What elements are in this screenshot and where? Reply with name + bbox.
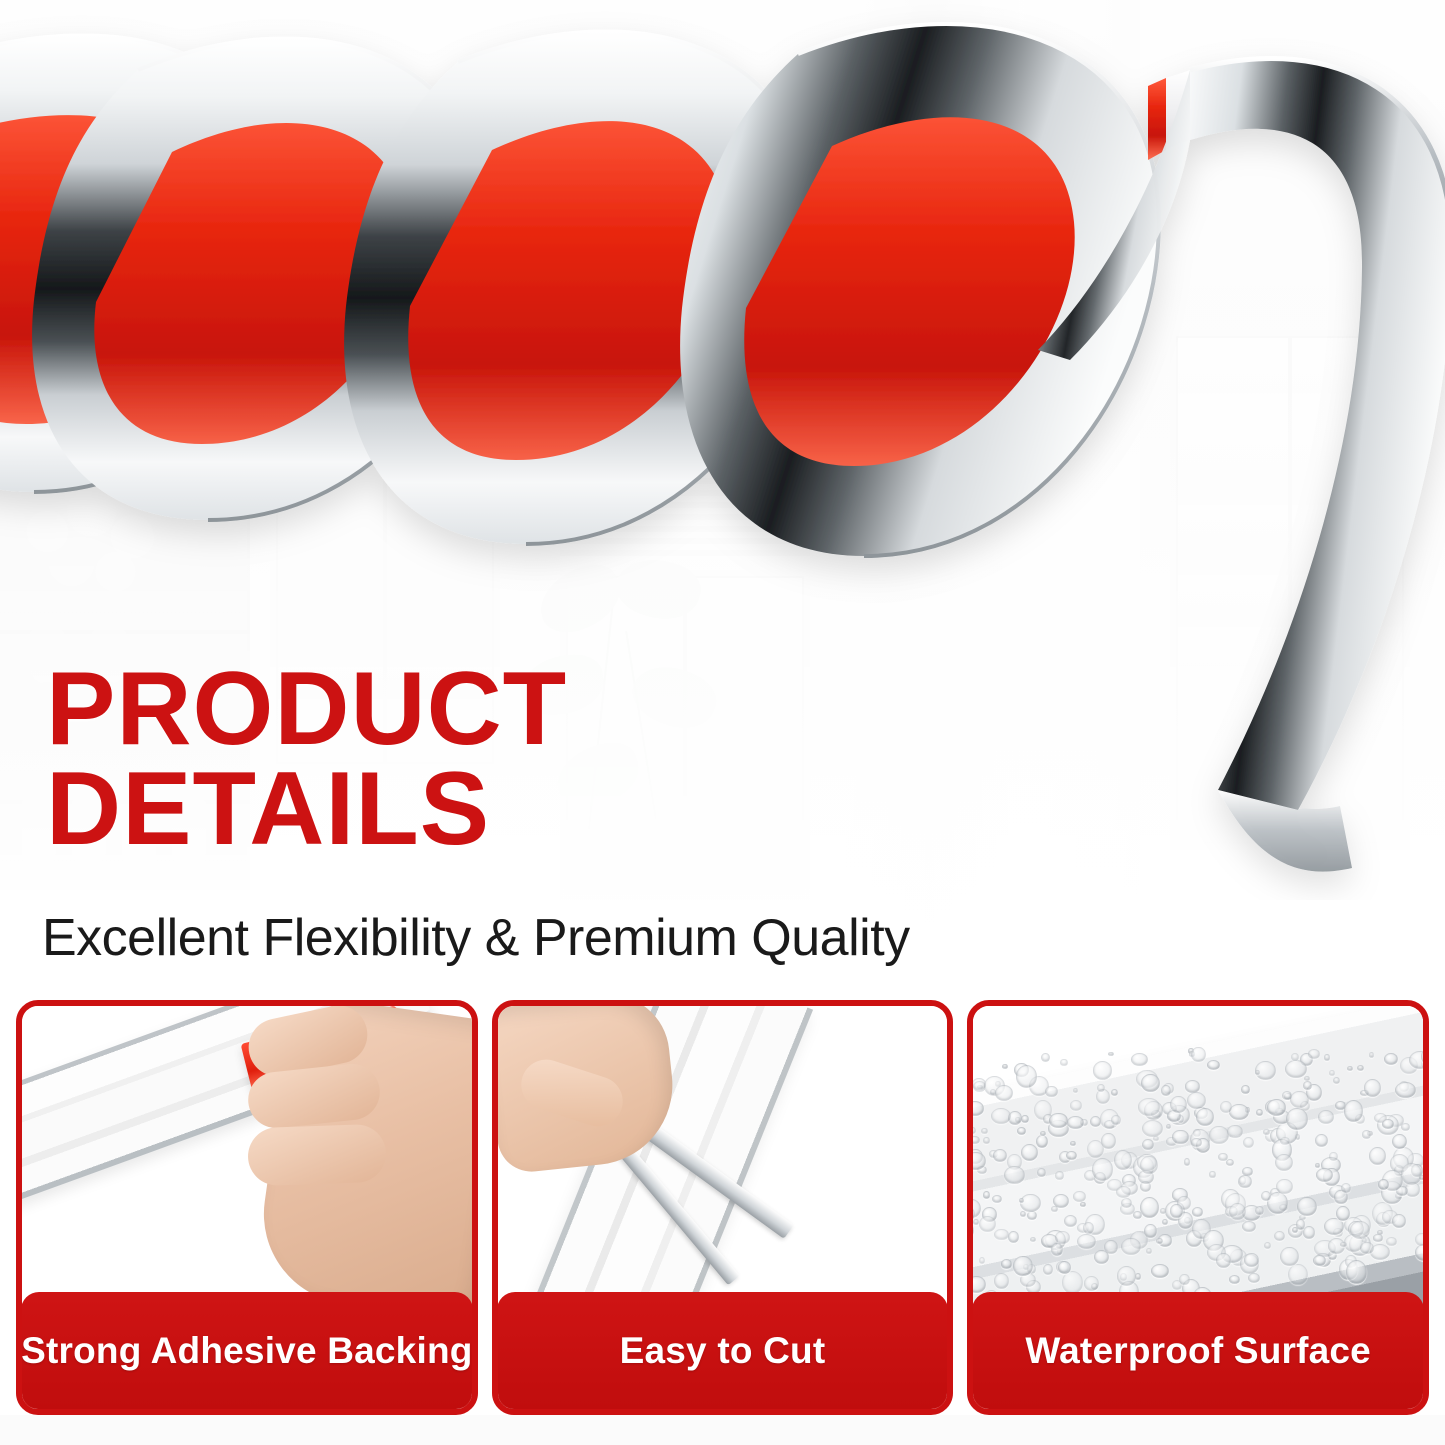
- water-droplet: [992, 1195, 1002, 1203]
- feature-image-cut: [498, 1006, 948, 1310]
- water-droplet: [1040, 1131, 1046, 1136]
- water-droplet: [1308, 1049, 1320, 1059]
- water-droplet: [1001, 1259, 1012, 1269]
- feature-image-waterproof: [973, 1006, 1423, 1310]
- water-droplet: [1070, 1141, 1076, 1146]
- water-droplet: [1207, 1060, 1220, 1070]
- water-droplet: [1292, 1227, 1298, 1233]
- water-droplet: [1170, 1096, 1187, 1113]
- water-droplet: [1280, 1247, 1299, 1267]
- water-droplet: [1013, 1256, 1033, 1277]
- water-droplet: [1093, 1061, 1112, 1079]
- headline-line-1: PRODUCT: [46, 651, 567, 767]
- bottom-spacer: [0, 1415, 1445, 1445]
- water-droplet: [1341, 1183, 1351, 1193]
- water-droplet: [1027, 1211, 1036, 1220]
- water-droplet: [1192, 1207, 1204, 1217]
- product-detail-infographic: PRODUCT DETAILS Excellent Flexibility & …: [0, 0, 1445, 1445]
- water-droplet: [1153, 1136, 1158, 1141]
- feature-caption-adhesive: Strong Adhesive Backing: [21, 1292, 473, 1410]
- water-droplet: [1244, 1253, 1259, 1267]
- water-droplet: [1373, 1234, 1382, 1241]
- water-droplet: [1226, 1159, 1235, 1166]
- water-droplet: [1142, 1120, 1163, 1137]
- page-title: PRODUCT DETAILS: [46, 660, 567, 860]
- water-droplet: [1360, 1242, 1373, 1254]
- feature-panel-waterproof[interactable]: Waterproof Surface: [967, 1000, 1429, 1415]
- water-drop-icon: [973, 1006, 1423, 1310]
- water-droplet: [1238, 1175, 1252, 1189]
- water-droplet: [1036, 1135, 1048, 1148]
- water-droplet: [1280, 1137, 1291, 1145]
- water-droplet: [1256, 1109, 1263, 1115]
- water-droplet: [1324, 1054, 1330, 1060]
- water-droplet: [1184, 1158, 1191, 1165]
- water-droplet: [1386, 1237, 1397, 1246]
- water-droplet: [973, 1219, 978, 1225]
- water-droplet: [1097, 1084, 1105, 1092]
- water-droplet: [1066, 1151, 1077, 1160]
- feature-caption-text: Strong Adhesive Backing: [21, 1330, 472, 1372]
- water-droplet: [1041, 1053, 1049, 1062]
- water-droplet: [1347, 1066, 1353, 1071]
- water-droplet: [1002, 1064, 1008, 1070]
- water-droplet: [1045, 1086, 1058, 1098]
- water-droplet: [1055, 1231, 1070, 1244]
- water-droplet: [991, 1108, 1011, 1124]
- water-droplet: [1191, 1047, 1205, 1062]
- water-droplet: [1275, 1154, 1293, 1171]
- water-droplet: [1220, 1101, 1231, 1113]
- feature-panel-row: Strong Adhesive Backing Easy to Cut: [16, 1000, 1429, 1415]
- water-droplet: [993, 1149, 1008, 1162]
- water-droplet: [1166, 1124, 1171, 1129]
- water-droplet: [1070, 1100, 1083, 1111]
- water-droplet: [1263, 1129, 1270, 1135]
- water-droplet: [1021, 1115, 1029, 1124]
- water-droplet: [1318, 1110, 1334, 1124]
- water-droplet: [1121, 1198, 1132, 1209]
- water-droplet: [995, 1085, 1013, 1101]
- water-droplet: [1196, 1108, 1214, 1126]
- scissors-icon: [498, 1006, 948, 1310]
- water-droplet: [1083, 1222, 1094, 1234]
- water-droplet: [1276, 1179, 1293, 1194]
- water-droplet: [1350, 1221, 1370, 1239]
- water-droplet: [1008, 1231, 1019, 1243]
- water-droplet: [979, 1257, 985, 1264]
- water-droplet: [1117, 1266, 1136, 1285]
- water-droplet: [1329, 1152, 1338, 1160]
- water-droplet: [1140, 1197, 1159, 1218]
- water-droplet: [1357, 1065, 1364, 1071]
- feature-caption-cut: Easy to Cut: [497, 1292, 949, 1410]
- water-droplet: [1313, 1255, 1326, 1266]
- page-subtitle: Excellent Flexibility & Premium Quality: [42, 908, 910, 968]
- water-droplet: [1392, 1214, 1406, 1227]
- water-droplet: [1415, 1244, 1423, 1260]
- water-droplet: [1297, 1197, 1317, 1216]
- water-droplet: [1058, 1261, 1071, 1274]
- water-droplet: [1161, 1085, 1171, 1096]
- water-droplet: [1315, 1163, 1320, 1168]
- water-droplet: [1121, 1238, 1141, 1255]
- water-droplet: [983, 1137, 989, 1144]
- water-droplet: [1151, 1264, 1169, 1278]
- water-droplet: [1329, 1070, 1335, 1076]
- water-droplet: [1229, 1203, 1246, 1220]
- water-droplet: [1241, 1085, 1250, 1094]
- water-droplet: [1049, 1113, 1067, 1128]
- water-droplet: [994, 1229, 1009, 1241]
- water-droplet: [1064, 1215, 1078, 1228]
- water-droplet: [1315, 1134, 1328, 1147]
- water-droplet: [1062, 1271, 1083, 1293]
- water-droplet: [1242, 1221, 1256, 1232]
- water-droplet: [1255, 1206, 1264, 1215]
- water-droplet: [1248, 1273, 1260, 1283]
- water-droplet: [1227, 1125, 1243, 1138]
- water-droplet: [1185, 1080, 1200, 1092]
- water-droplet: [1209, 1126, 1228, 1144]
- water-droplet: [1073, 1088, 1078, 1093]
- water-droplet: [1172, 1130, 1188, 1145]
- feature-caption-text: Easy to Cut: [620, 1330, 826, 1372]
- water-droplet: [1108, 1052, 1114, 1056]
- water-droplet: [1382, 1119, 1393, 1129]
- water-droplet: [1094, 1250, 1109, 1264]
- water-droplet: [1146, 1248, 1151, 1254]
- headline-line-2: DETAILS: [46, 760, 567, 860]
- water-droplet: [981, 1128, 988, 1135]
- water-droplet: [1285, 1060, 1307, 1078]
- water-droplet: [1020, 1211, 1026, 1218]
- water-droplet: [1362, 1130, 1372, 1139]
- hand-peel-icon: [22, 1006, 472, 1310]
- water-droplet: [1369, 1147, 1386, 1165]
- water-droplet: [1261, 1191, 1271, 1201]
- water-droplet: [1187, 1092, 1207, 1109]
- water-droplet: [1077, 1234, 1096, 1249]
- water-droplet: [1229, 1104, 1249, 1120]
- water-droplet: [1073, 1191, 1085, 1202]
- water-droplet: [1286, 1108, 1307, 1130]
- water-droplet: [1111, 1089, 1118, 1096]
- water-droplet: [1264, 1242, 1271, 1249]
- water-droplet: [1043, 1264, 1053, 1275]
- water-droplet: [1401, 1163, 1422, 1185]
- water-droplet: [1415, 1233, 1423, 1246]
- feature-panel-adhesive[interactable]: Strong Adhesive Backing: [16, 1000, 478, 1415]
- water-droplet: [1067, 1116, 1084, 1129]
- water-droplet: [1216, 1253, 1230, 1267]
- water-droplet: [1142, 1139, 1154, 1150]
- water-droplet: [1021, 1144, 1038, 1161]
- water-droplet: [1364, 1079, 1381, 1096]
- water-droplet: [1060, 1059, 1067, 1066]
- water-droplet: [1401, 1123, 1410, 1131]
- water-droplet: [1084, 1276, 1099, 1291]
- water-droplet: [1255, 1070, 1260, 1075]
- water-droplet: [1209, 1171, 1215, 1177]
- feature-caption-text: Waterproof Surface: [1025, 1330, 1371, 1372]
- water-droplet: [1162, 1219, 1168, 1225]
- water-droplet: [994, 1273, 1009, 1289]
- water-droplet: [973, 1276, 986, 1293]
- water-droplet: [1055, 1171, 1063, 1180]
- water-droplet: [1384, 1053, 1398, 1065]
- water-droplet: [1017, 1127, 1026, 1135]
- water-droplet: [1378, 1179, 1389, 1190]
- water-droplet: [1243, 1137, 1254, 1148]
- water-droplet: [1303, 1226, 1316, 1239]
- water-droplet: [1138, 1098, 1160, 1115]
- water-droplet: [1291, 1053, 1299, 1061]
- water-droplet: [1369, 1052, 1375, 1058]
- water-droplet: [1030, 1237, 1037, 1242]
- water-droplet: [1020, 1194, 1040, 1212]
- feature-caption-waterproof: Waterproof Surface: [972, 1292, 1424, 1410]
- water-droplet: [1346, 1260, 1367, 1284]
- water-droplet: [973, 1101, 984, 1116]
- water-droplet: [1080, 1202, 1086, 1207]
- water-droplet: [1141, 1074, 1160, 1093]
- water-droplet: [1170, 1204, 1183, 1217]
- water-droplet: [973, 1081, 986, 1092]
- water-droplet: [1051, 1206, 1057, 1212]
- water-droplet: [1267, 1099, 1286, 1115]
- water-droplet: [973, 1136, 979, 1144]
- water-droplet: [1344, 1100, 1364, 1122]
- water-droplet: [1333, 1077, 1340, 1084]
- water-droplet: [1116, 1186, 1131, 1198]
- feature-panel-cut[interactable]: Easy to Cut: [492, 1000, 954, 1415]
- water-droplet: [1092, 1158, 1113, 1180]
- water-droplet: [1016, 1065, 1038, 1088]
- feature-image-adhesive: [22, 1006, 472, 1310]
- water-droplet: [1037, 1168, 1047, 1177]
- water-droplet: [1395, 1082, 1416, 1098]
- water-droplet: [1133, 1211, 1142, 1219]
- water-droplet: [1004, 1166, 1025, 1184]
- water-droplet: [1274, 1231, 1285, 1241]
- water-droplet: [1131, 1053, 1148, 1066]
- water-droplet: [983, 1191, 990, 1199]
- water-droplet: [979, 1216, 996, 1232]
- water-droplet: [1288, 1264, 1307, 1285]
- water-droplet: [1090, 1116, 1101, 1127]
- water-droplet: [1111, 1115, 1121, 1125]
- water-droplet: [1087, 1140, 1104, 1158]
- water-droplet: [1392, 1134, 1407, 1149]
- water-droplet: [1229, 1275, 1241, 1284]
- water-droplet: [1191, 1138, 1201, 1146]
- water-droplet: [1303, 1081, 1312, 1090]
- water-droplet: [973, 1127, 976, 1134]
- water-droplet: [1140, 1156, 1157, 1174]
